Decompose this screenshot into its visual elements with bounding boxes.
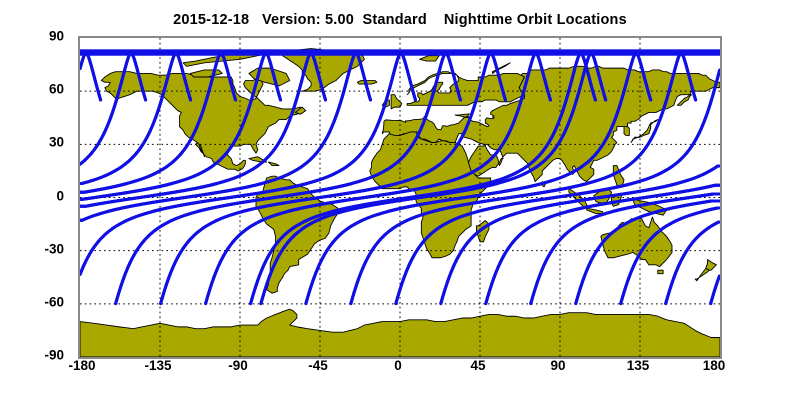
y-tick-label: 60 — [49, 82, 64, 96]
world-basemap — [80, 38, 720, 357]
x-tick-label: -180 — [68, 359, 95, 373]
x-tick-label: 0 — [394, 359, 402, 373]
x-tick-label: -90 — [228, 359, 248, 373]
y-tick-label: 90 — [49, 29, 64, 43]
x-tick-label: 180 — [703, 359, 726, 373]
chart-title: 2015-12-18 Version: 5.00 Standard Nightt… — [0, 12, 800, 28]
x-tick-label: 90 — [550, 359, 565, 373]
y-tick-label: 0 — [56, 189, 64, 203]
orbit-map-figure: 2015-12-18 Version: 5.00 Standard Nightt… — [0, 0, 800, 400]
plot-area — [78, 36, 722, 359]
y-tick-label: 30 — [49, 136, 64, 150]
x-tick-label: 135 — [627, 359, 650, 373]
y-tick-label: -30 — [44, 242, 64, 256]
x-tick-label: 45 — [470, 359, 485, 373]
y-axis-tick-labels: 9060300-30-60-90 — [0, 36, 72, 355]
y-tick-label: -90 — [44, 348, 64, 362]
x-tick-label: -45 — [308, 359, 328, 373]
plot-inner — [80, 38, 720, 357]
x-axis-tick-labels: -180-135-90-4504590135180 — [78, 359, 718, 381]
y-tick-label: -60 — [44, 295, 64, 309]
x-tick-label: -135 — [144, 359, 171, 373]
